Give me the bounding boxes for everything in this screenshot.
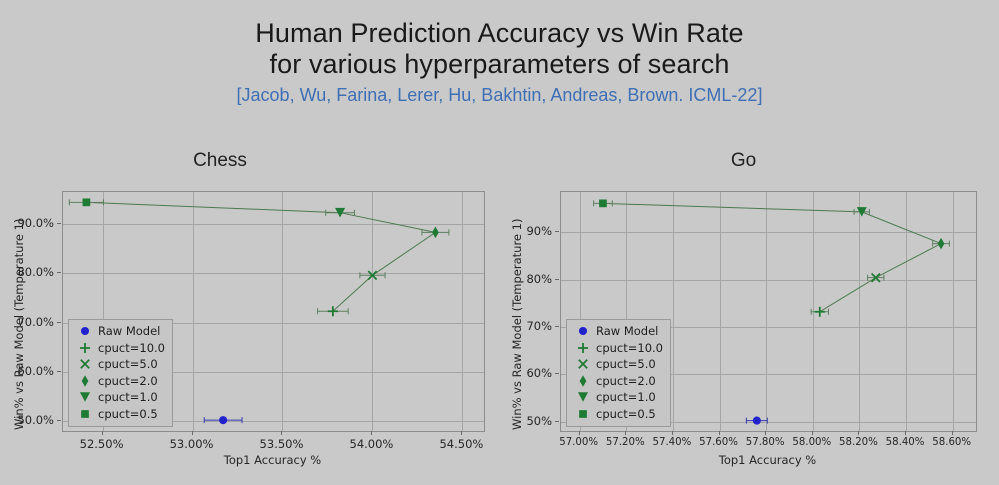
legend-item-label: Raw Model	[594, 324, 658, 338]
y-tickmark	[57, 322, 61, 323]
x-tickmark	[765, 431, 766, 435]
legend-marker-circle-icon	[74, 324, 96, 338]
y-axis-tick-label: 70%	[498, 319, 552, 333]
legend-item-label: cpuct=5.0	[96, 357, 158, 371]
legend-item-label: cpuct=0.5	[96, 407, 158, 421]
y-tickmark	[57, 420, 61, 421]
x-axis-tick-label: 53.50%	[260, 437, 304, 451]
legend-item[interactable]: cpuct=10.0	[74, 340, 165, 357]
title-block: Human Prediction Accuracy vs Win Rate fo…	[0, 18, 999, 108]
slide-citation: [Jacob, Wu, Farina, Lerer, Hu, Bakhtin, …	[0, 83, 999, 108]
x-axis-tick-label: 52.50%	[80, 437, 124, 451]
legend-marker-square-icon	[74, 407, 96, 421]
y-axis-tick-label: 60.0%	[0, 364, 54, 378]
y-tickmark	[57, 223, 61, 224]
legend-marker-cross-icon	[572, 357, 594, 371]
x-tickmark	[192, 431, 193, 435]
x-tickmark	[812, 431, 813, 435]
legend-item[interactable]: cpuct=1.0	[74, 389, 165, 406]
y-tickmark	[57, 371, 61, 372]
legend-item-label: cpuct=2.0	[594, 374, 656, 388]
legend-item-label: cpuct=1.0	[96, 390, 158, 404]
chart-legend: Raw Modelcpuct=10.0cpuct=5.0cpuct=2.0cpu…	[566, 319, 671, 427]
legend-item-label: cpuct=2.0	[96, 374, 158, 388]
legend-item-label: cpuct=10.0	[594, 341, 663, 355]
legend-item[interactable]: cpuct=1.0	[572, 389, 663, 406]
x-axis-tick-label: 57.80%	[746, 437, 785, 448]
x-tickmark	[625, 431, 626, 435]
x-axis-tick-label: 58.60%	[932, 437, 971, 448]
chart-panel-chess: Chess Raw Modelcpuct=10.0cpuct=5.0cpuct=…	[0, 150, 500, 485]
y-axis-tick-label: 50%	[498, 414, 552, 428]
y-axis-tick-label: 80%	[498, 272, 552, 286]
legend-item-label: cpuct=10.0	[96, 341, 165, 355]
x-axis-tick-label: 57.60%	[699, 437, 738, 448]
legend-item-label: cpuct=1.0	[594, 390, 656, 404]
chart-legend: Raw Modelcpuct=10.0cpuct=5.0cpuct=2.0cpu…	[68, 319, 173, 427]
data-point-circle	[219, 416, 227, 424]
y-axis-tick-label: 60%	[498, 366, 552, 380]
legend-marker-cross-icon	[74, 357, 96, 371]
legend-item[interactable]: Raw Model	[74, 323, 165, 340]
y-tickmark	[555, 373, 559, 374]
data-point-circle	[753, 417, 761, 425]
x-axis-tick-label: 53.00%	[170, 437, 214, 451]
x-axis-tick-label: 57.20%	[606, 437, 645, 448]
legend-item[interactable]: cpuct=2.0	[74, 373, 165, 390]
legend-item-label: cpuct=0.5	[594, 407, 656, 421]
legend-marker-triangle_down-icon	[572, 390, 594, 404]
x-tickmark	[905, 431, 906, 435]
legend-item[interactable]: Raw Model	[572, 323, 663, 340]
legend-item-label: Raw Model	[96, 324, 160, 338]
legend-marker-square-icon	[572, 407, 594, 421]
x-axis-tick-label: 57.40%	[652, 437, 691, 448]
y-axis-tick-label: 70.0%	[0, 315, 54, 329]
x-tickmark	[281, 431, 282, 435]
x-tickmark	[672, 431, 673, 435]
legend-marker-plus-icon	[572, 341, 594, 355]
data-point-square	[599, 200, 607, 208]
legend-marker-diamond-icon	[572, 374, 594, 388]
x-axis-label: Top1 Accuracy %	[224, 453, 321, 467]
x-axis-tick-label: 58.40%	[886, 437, 925, 448]
legend-item[interactable]: cpuct=0.5	[572, 406, 663, 423]
data-point-diamond	[938, 238, 945, 249]
x-tickmark	[858, 431, 859, 435]
x-axis-tick-label: 54.00%	[350, 437, 394, 451]
legend-marker-plus-icon	[74, 341, 96, 355]
y-tickmark	[555, 326, 559, 327]
legend-item-label: cpuct=5.0	[594, 357, 656, 371]
slide-title-line-2: for various hyperparameters of search	[0, 49, 999, 80]
x-tickmark	[102, 431, 103, 435]
x-tickmark	[952, 431, 953, 435]
plot-area-go: Raw Modelcpuct=10.0cpuct=5.0cpuct=2.0cpu…	[560, 191, 977, 432]
legend-item[interactable]: cpuct=2.0	[572, 373, 663, 390]
y-axis-tick-label: 90%	[498, 224, 552, 238]
data-point-diamond	[432, 227, 439, 238]
data-point-plus	[815, 307, 825, 317]
connector-line	[603, 203, 941, 311]
legend-item[interactable]: cpuct=5.0	[572, 356, 663, 373]
chart-title-go: Go	[493, 150, 994, 172]
chart-panel-go: Go Raw Modelcpuct=10.0cpuct=5.0cpuct=2.0…	[498, 150, 999, 485]
legend-marker-triangle_down-icon	[74, 390, 96, 404]
legend-marker-circle-icon	[572, 324, 594, 338]
y-tickmark	[555, 421, 559, 422]
x-tickmark	[719, 431, 720, 435]
connector-line	[86, 202, 435, 311]
y-axis-tick-label: 90.0%	[0, 216, 54, 230]
x-axis-tick-label: 54.50%	[439, 437, 483, 451]
data-point-square	[83, 198, 91, 206]
chart-title-chess: Chess	[0, 150, 470, 172]
x-tickmark	[461, 431, 462, 435]
y-tickmark	[555, 231, 559, 232]
y-axis-tick-label: 50.0%	[0, 413, 54, 427]
slide-title-line-1: Human Prediction Accuracy vs Win Rate	[0, 18, 999, 49]
legend-item[interactable]: cpuct=10.0	[572, 340, 663, 357]
y-axis-label: Win% vs Raw Model (Temperature 1)	[12, 219, 26, 430]
y-tickmark	[555, 279, 559, 280]
y-axis-tick-label: 80.0%	[0, 265, 54, 279]
legend-item[interactable]: cpuct=5.0	[74, 356, 165, 373]
slide-canvas: Human Prediction Accuracy vs Win Rate fo…	[0, 0, 999, 485]
y-tickmark	[57, 272, 61, 273]
x-axis-tick-label: 57.00%	[559, 437, 598, 448]
y-axis-label: Win% vs Raw Model (Temperature 1)	[510, 219, 524, 430]
x-axis-tick-label: 58.20%	[839, 437, 878, 448]
x-tickmark	[371, 431, 372, 435]
x-axis-tick-label: 58.00%	[792, 437, 831, 448]
legend-marker-diamond-icon	[74, 374, 96, 388]
legend-item[interactable]: cpuct=0.5	[74, 406, 165, 423]
plot-area-chess: Raw Modelcpuct=10.0cpuct=5.0cpuct=2.0cpu…	[62, 191, 485, 432]
x-tickmark	[579, 431, 580, 435]
x-axis-label: Top1 Accuracy %	[719, 453, 816, 467]
